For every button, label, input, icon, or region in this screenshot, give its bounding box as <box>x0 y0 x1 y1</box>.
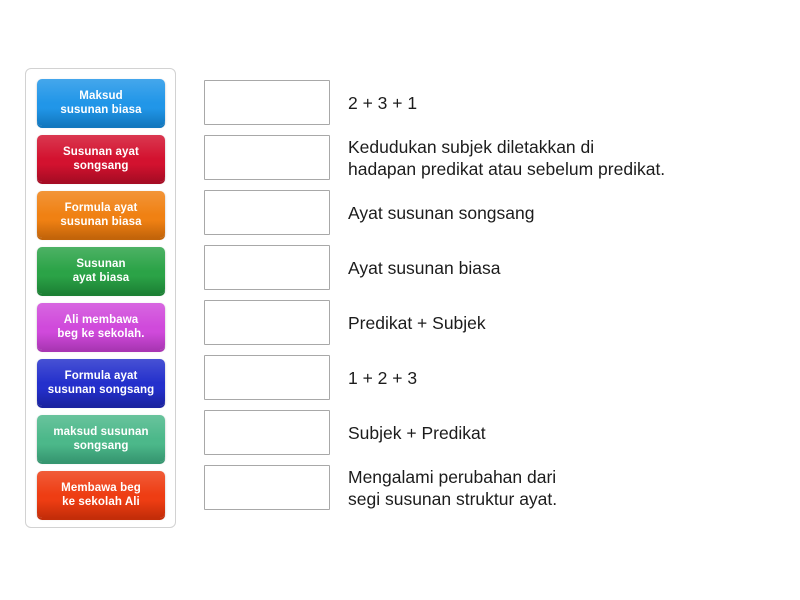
drop-slot[interactable] <box>204 300 330 345</box>
drop-slot[interactable] <box>204 135 330 180</box>
answer-text: Ayat susunan songsang <box>348 202 534 224</box>
answer-row: Kedudukan subjek diletakkan di hadapan p… <box>204 135 790 180</box>
answer-text: 2 + 3 + 1 <box>348 92 417 114</box>
answer-row: 2 + 3 + 1 <box>204 80 790 125</box>
draggable-tile[interactable]: Susunan ayat biasa <box>37 247 165 294</box>
tile-label: Susunan ayat songsang <box>63 145 139 173</box>
draggable-tile[interactable]: Susunan ayat songsang <box>37 135 165 182</box>
drop-slot[interactable] <box>204 80 330 125</box>
answer-text: Subjek + Predikat <box>348 422 486 444</box>
answers-list: 2 + 3 + 1 Kedudukan subjek diletakkan di… <box>204 80 790 510</box>
tile-label: Maksud susunan biasa <box>60 89 141 117</box>
answer-text: Kedudukan subjek diletakkan di hadapan p… <box>348 136 665 180</box>
answer-row: Ayat susunan biasa <box>204 245 790 290</box>
draggable-tile[interactable]: Formula ayat susunan songsang <box>37 359 165 406</box>
answer-row: Predikat + Subjek <box>204 300 790 345</box>
answer-text: Predikat + Subjek <box>348 312 486 334</box>
draggable-tile[interactable]: Maksud susunan biasa <box>37 79 165 126</box>
answer-text: Ayat susunan biasa <box>348 257 500 279</box>
tile-label: Membawa beg ke sekolah Ali <box>61 481 141 509</box>
tile-label: maksud susunan songsang <box>53 425 148 453</box>
drop-slot[interactable] <box>204 355 330 400</box>
answer-row: Mengalami perubahan dari segi susunan st… <box>204 465 790 510</box>
drop-slot[interactable] <box>204 410 330 455</box>
tile-label: Ali membawa beg ke sekolah. <box>57 313 144 341</box>
drop-slot[interactable] <box>204 245 330 290</box>
tile-label: Formula ayat susunan biasa <box>60 201 141 229</box>
draggable-tile[interactable]: Formula ayat susunan biasa <box>37 191 165 238</box>
draggable-tile[interactable]: maksud susunan songsang <box>37 415 165 462</box>
answer-row: 1 + 2 + 3 <box>204 355 790 400</box>
answer-text: 1 + 2 + 3 <box>348 367 417 389</box>
tile-label: Susunan ayat biasa <box>73 257 130 285</box>
match-up-activity: Maksud susunan biasa Susunan ayat songsa… <box>0 0 800 600</box>
answer-row: Ayat susunan songsang <box>204 190 790 235</box>
tile-label: Formula ayat susunan songsang <box>48 369 154 397</box>
draggable-tile[interactable]: Ali membawa beg ke sekolah. <box>37 303 165 350</box>
drop-slot[interactable] <box>204 190 330 235</box>
draggable-tiles-panel: Maksud susunan biasa Susunan ayat songsa… <box>25 68 176 528</box>
answer-row: Subjek + Predikat <box>204 410 790 455</box>
answer-text: Mengalami perubahan dari segi susunan st… <box>348 466 557 510</box>
drop-slot[interactable] <box>204 465 330 510</box>
draggable-tile[interactable]: Membawa beg ke sekolah Ali <box>37 471 165 518</box>
